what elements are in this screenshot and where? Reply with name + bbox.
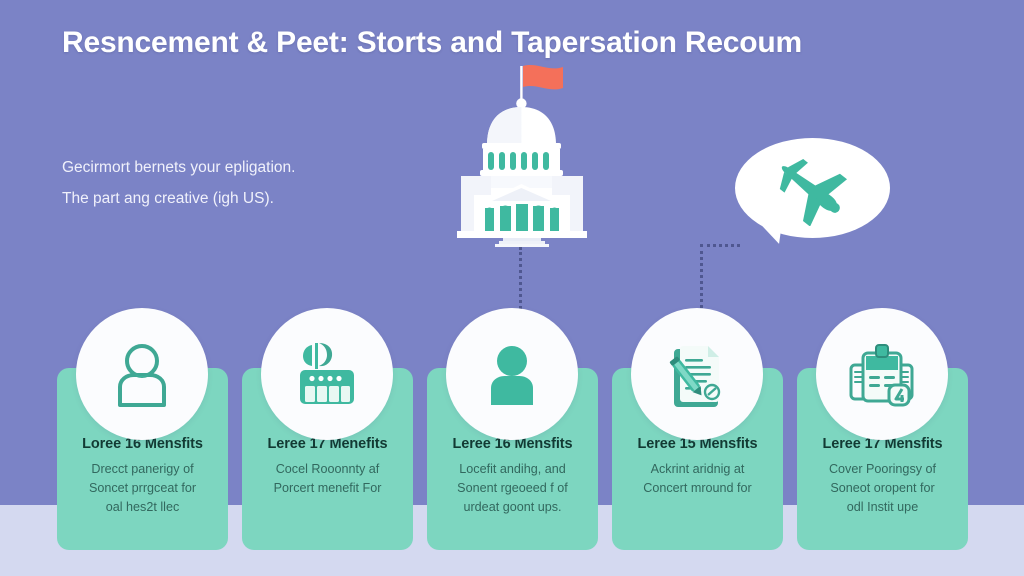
clipboard-badge-icon: [845, 337, 919, 411]
card-1-description: Drecct panerigy of Soncet prrgceat for o…: [69, 460, 216, 517]
user-filled-icon-svg: [475, 337, 549, 411]
user-filled-icon: [475, 337, 549, 411]
card-4-icon-circle: [631, 308, 763, 440]
card-1-desc-line-3: oal hes2t llec: [69, 498, 216, 517]
filing-cabinet-icon-svg: [290, 337, 364, 411]
user-outline-icon-svg: [105, 337, 179, 411]
infographic-canvas: Resncement & Peet: Storts and Tapersatio…: [0, 0, 1024, 576]
card-3-desc-line-3: urdeat goont ups.: [439, 498, 586, 517]
card-5-desc-line-3: odl Instit upe: [809, 498, 956, 517]
cards-row: Loree 16 Mensfits Drecct panerigy of Son…: [0, 0, 1024, 576]
card-2-description: Cocel Rooonnty af Porcert menefit For: [254, 460, 401, 498]
card-1-icon-circle: [76, 308, 208, 440]
user-outline-icon: [105, 337, 179, 411]
card-5-description: Cover Pooringsy of Soneot oropent for od…: [809, 460, 956, 517]
filing-cabinet-icon: [290, 337, 364, 411]
card-4-description: Ackrint aridnig at Concert mround for: [624, 460, 771, 498]
clipboard-badge-icon-svg: [845, 337, 919, 411]
card-2-desc-line-2: Porcert menefit For: [254, 479, 401, 498]
card-4-desc-line-1: Ackrint aridnig at: [624, 460, 771, 479]
card-3-icon-circle: [446, 308, 578, 440]
card-1-desc-line-1: Drecct panerigy of: [69, 460, 216, 479]
card-5-desc-line-1: Cover Pooringsy of: [809, 460, 956, 479]
card-3-desc-line-2: Sonent rgeoeed f of: [439, 479, 586, 498]
card-3-description: Locefit andihg, and Sonent rgeoeed f of …: [439, 460, 586, 517]
document-pen-icon: [660, 337, 734, 411]
card-5-icon-circle: [816, 308, 948, 440]
card-2-desc-line-1: Cocel Rooonnty af: [254, 460, 401, 479]
card-5-desc-line-2: Soneot oropent for: [809, 479, 956, 498]
card-2-icon-circle: [261, 308, 393, 440]
card-3-desc-line-1: Locefit andihg, and: [439, 460, 586, 479]
document-pen-icon-svg: [660, 337, 734, 411]
card-4-desc-line-2: Concert mround for: [624, 479, 771, 498]
card-1-desc-line-2: Soncet prrgceat for: [69, 479, 216, 498]
